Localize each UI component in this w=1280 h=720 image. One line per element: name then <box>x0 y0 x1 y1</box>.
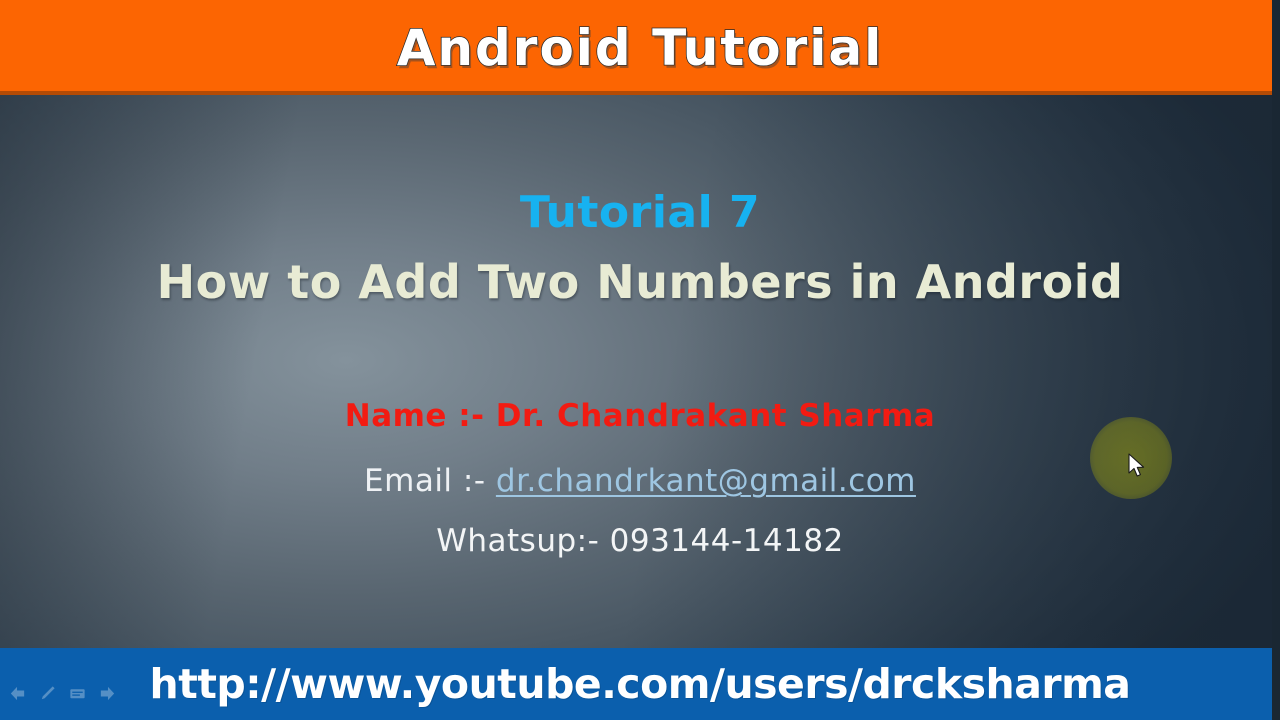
presentation-slide-screen: Android Tutorial Tutorial 7 How to Add T… <box>0 0 1280 720</box>
next-arrow-icon[interactable] <box>98 684 117 703</box>
previous-arrow-icon[interactable] <box>8 684 27 703</box>
presenter-name-line: Name :- Dr. Chandrakant Sharma <box>0 398 1280 434</box>
tutorial-number-heading: Tutorial 7 <box>0 187 1280 238</box>
right-edge-border <box>1272 0 1280 720</box>
pen-icon[interactable] <box>38 684 57 703</box>
email-link[interactable]: dr.chandrkant@gmail.com <box>496 463 916 499</box>
presenter-whatsup-line: Whatsup:- 093144-14182 <box>0 523 1280 559</box>
slide-content: Tutorial 7 How to Add Two Numbers in And… <box>0 95 1280 648</box>
slide-body: Tutorial 7 How to Add Two Numbers in And… <box>0 95 1280 648</box>
header-banner: Android Tutorial <box>0 0 1280 95</box>
page-title: Android Tutorial <box>397 19 884 77</box>
email-label: Email :- <box>364 463 496 499</box>
slide-menu-icon[interactable] <box>68 684 87 703</box>
footer-url-bar: http://www.youtube.com/users/drcksharma <box>0 648 1280 720</box>
presenter-email-line: Email :- dr.chandrkant@gmail.com <box>0 463 1280 499</box>
youtube-channel-url[interactable]: http://www.youtube.com/users/drcksharma <box>0 660 1280 708</box>
slide-subtitle-heading: How to Add Two Numbers in Android <box>0 255 1280 309</box>
presenter-toolbar[interactable] <box>8 684 117 703</box>
